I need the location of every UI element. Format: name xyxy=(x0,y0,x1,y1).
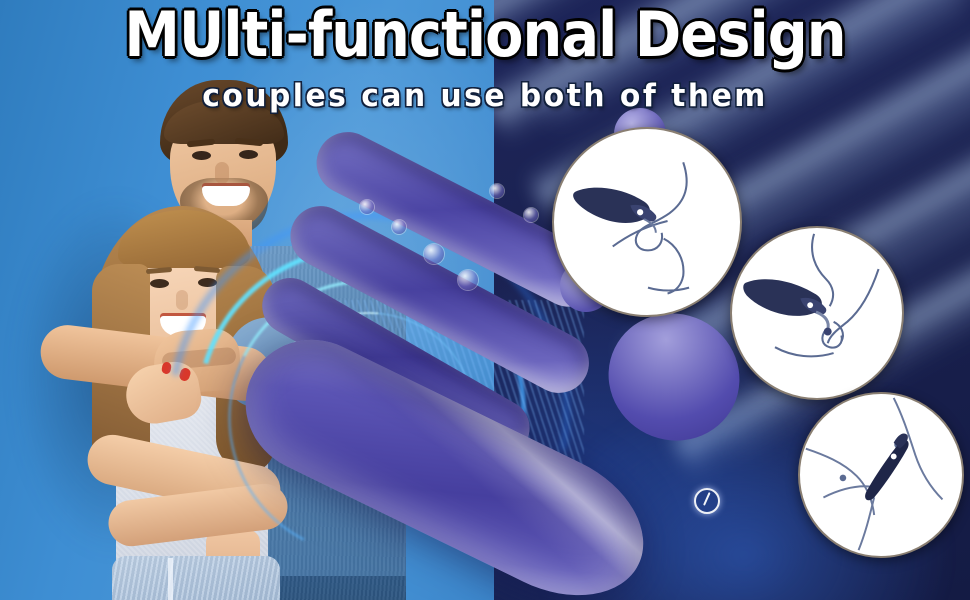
product-nub xyxy=(490,184,504,198)
page-subtitle: couples can use both of them xyxy=(19,78,950,114)
callout-1[interactable] xyxy=(552,127,742,317)
usage-diagram-icon xyxy=(554,129,740,315)
woman-eye-left xyxy=(150,279,169,288)
product-nub xyxy=(360,200,374,214)
man-nose xyxy=(215,162,229,184)
callout-2[interactable] xyxy=(730,226,904,400)
woman-shorts-seam xyxy=(168,558,173,600)
banner-image: MUlti-functional Design couples can use … xyxy=(0,0,970,600)
product-nub xyxy=(524,208,538,222)
usage-diagram-icon xyxy=(800,394,962,556)
usage-diagram-icon xyxy=(732,228,902,398)
product-silhouette xyxy=(865,440,909,500)
page-title: MUlti-functional Design xyxy=(49,0,922,72)
product-nub xyxy=(458,270,478,290)
woman-eye-right xyxy=(198,278,217,287)
man-eye-right xyxy=(239,150,258,159)
woman-denim-shorts xyxy=(112,556,280,600)
power-icon[interactable] xyxy=(694,488,720,514)
callout-3[interactable] xyxy=(798,392,964,558)
product-nub xyxy=(392,220,406,234)
product-nub xyxy=(424,244,444,264)
woman-nose xyxy=(176,290,188,310)
product-handle xyxy=(223,317,667,600)
man-eye-left xyxy=(192,151,211,160)
